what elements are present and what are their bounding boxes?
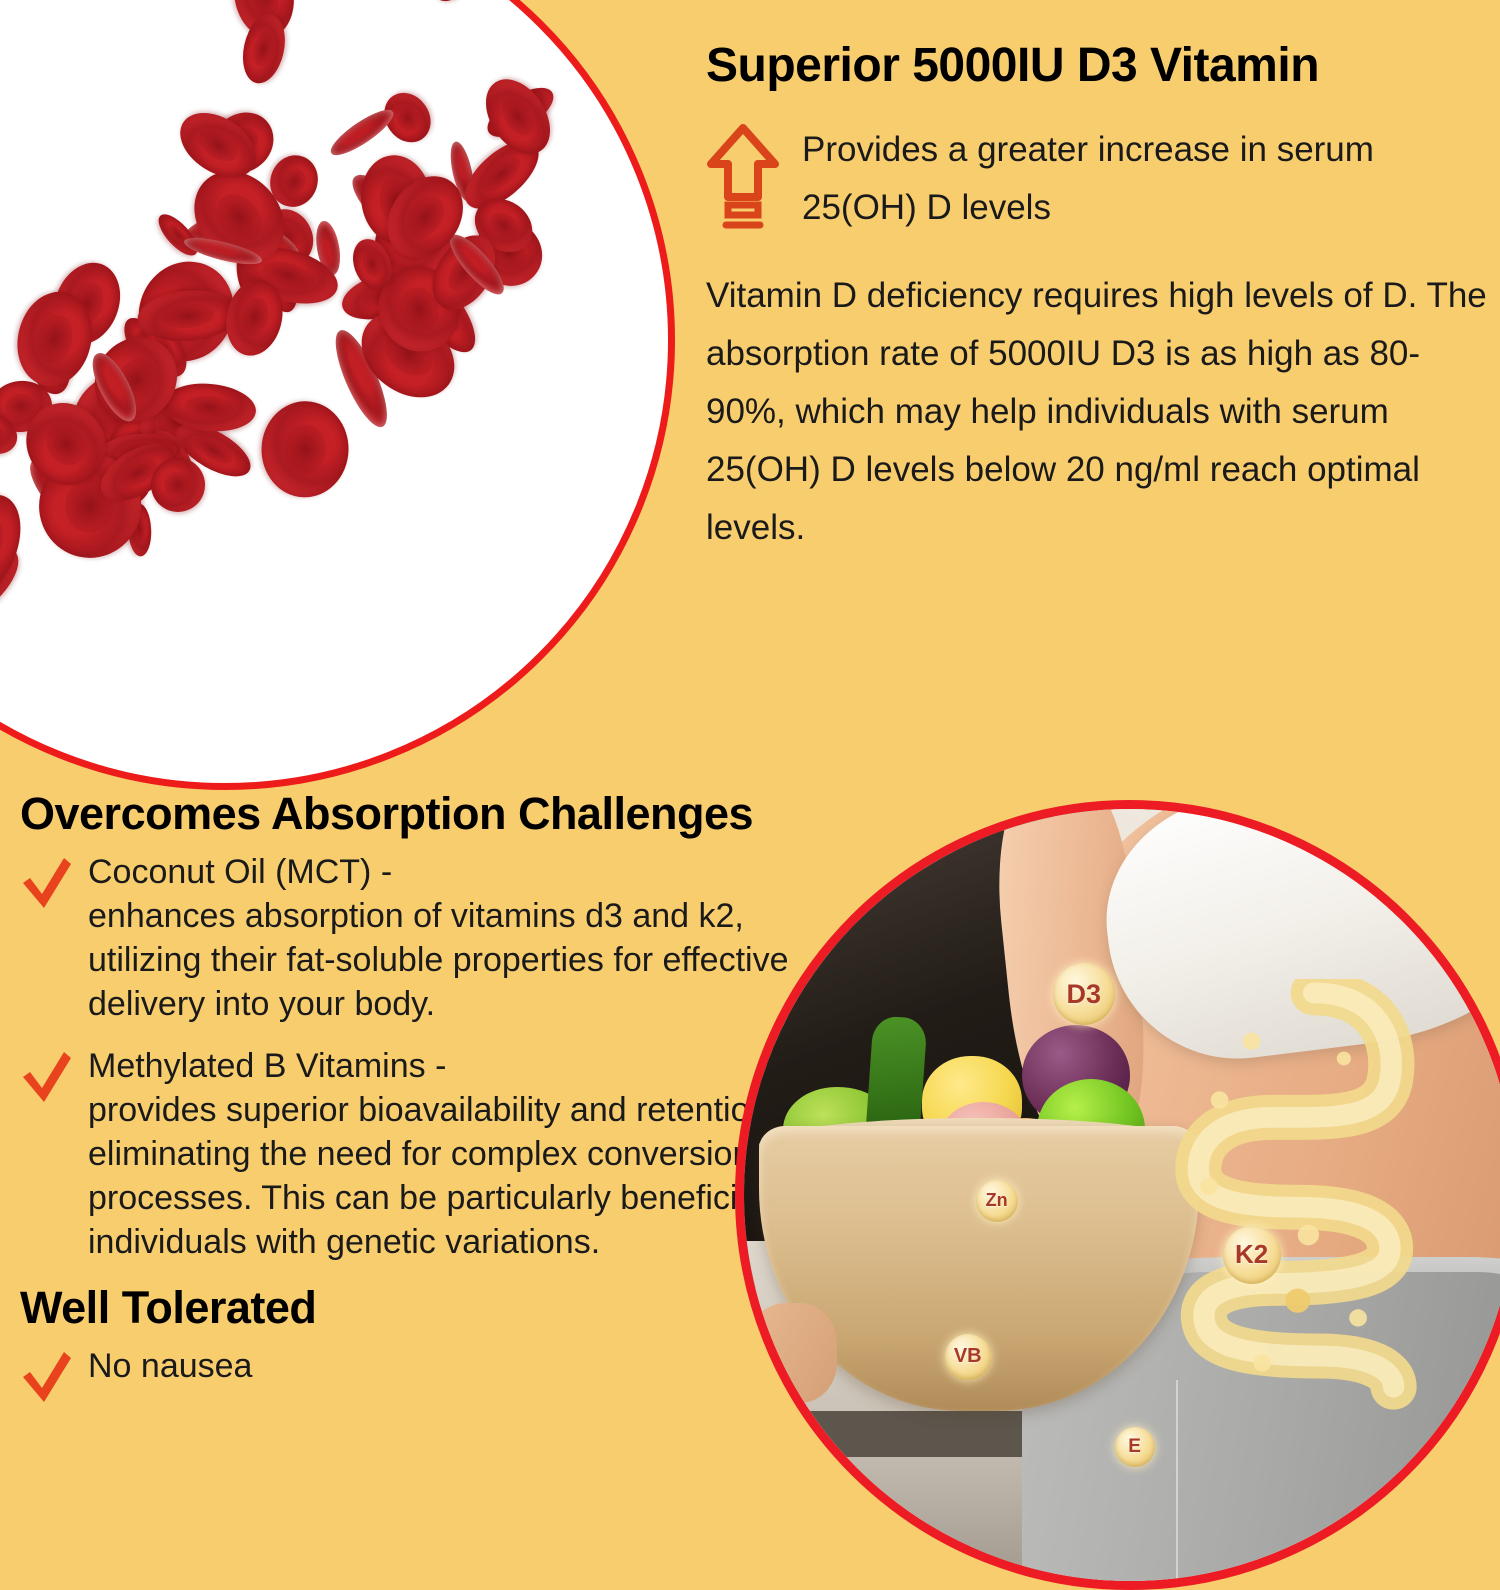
checkmark-icon — [20, 856, 74, 917]
lower-left-column: Overcomes Absorption Challenges Coconut … — [20, 788, 832, 1411]
benefit-bullet: Provides a greater increase in serum 25(… — [706, 121, 1496, 237]
red-blood-cell — [421, 0, 479, 6]
absorption-item-body: enhances absorption of vitamins d3 and k… — [88, 897, 789, 1023]
absorption-paragraph: Vitamin D deficiency requires high level… — [706, 267, 1496, 557]
absorption-item-title: Methylated B Vitamins - — [88, 1047, 446, 1085]
red-blood-cell — [473, 67, 563, 165]
blood-cells-image — [0, 0, 675, 790]
red-blood-cell — [260, 400, 350, 499]
absorption-section-heading: Overcomes Absorption Challenges — [20, 788, 832, 840]
checkmark-icon — [20, 1050, 74, 1111]
tolerated-section-heading: Well Tolerated — [20, 1282, 832, 1334]
absorption-item: Methylated B Vitamins - provides superio… — [20, 1044, 832, 1264]
tolerated-item: No nausea — [20, 1344, 832, 1411]
absorption-item: Coconut Oil (MCT) - enhances absorption … — [20, 850, 832, 1026]
absorption-item-text: Coconut Oil (MCT) - enhances absorption … — [88, 850, 832, 1026]
digestive-tract-overlay — [1145, 979, 1500, 1411]
red-blood-cell — [506, 0, 562, 5]
hand — [744, 1303, 837, 1403]
absorption-item-title: Coconut Oil (MCT) - — [88, 853, 392, 891]
vitamin-label-e: E — [1115, 1427, 1155, 1467]
absorption-item-body: provides superior bioavailability and re… — [88, 1091, 813, 1261]
red-blood-cell — [326, 103, 399, 162]
checkmark-icon — [20, 1350, 74, 1411]
vitamin-label-vb: VB — [945, 1334, 991, 1380]
kitchen-counter-edge — [744, 1411, 1037, 1457]
up-arrow-icon — [706, 123, 780, 236]
vitamin-label-zn: Zn — [976, 1180, 1018, 1222]
benefit-bullet-text: Provides a greater increase in serum 25(… — [802, 121, 1496, 237]
top-text-column: Superior 5000IU D3 Vitamin Provides a gr… — [706, 38, 1496, 557]
vitamin-label-k2: K2 — [1223, 1226, 1281, 1284]
tolerated-item-text: No nausea — [88, 1344, 252, 1388]
absorption-item-text: Methylated B Vitamins - provides superio… — [88, 1044, 832, 1264]
body-absorption-image: D3 Zn K2 VB E — [735, 800, 1500, 1590]
body-image-scene: D3 Zn K2 VB E — [744, 809, 1500, 1581]
page-title: Superior 5000IU D3 Vitamin — [706, 38, 1496, 93]
vitamin-label-d3: D3 — [1053, 963, 1115, 1025]
